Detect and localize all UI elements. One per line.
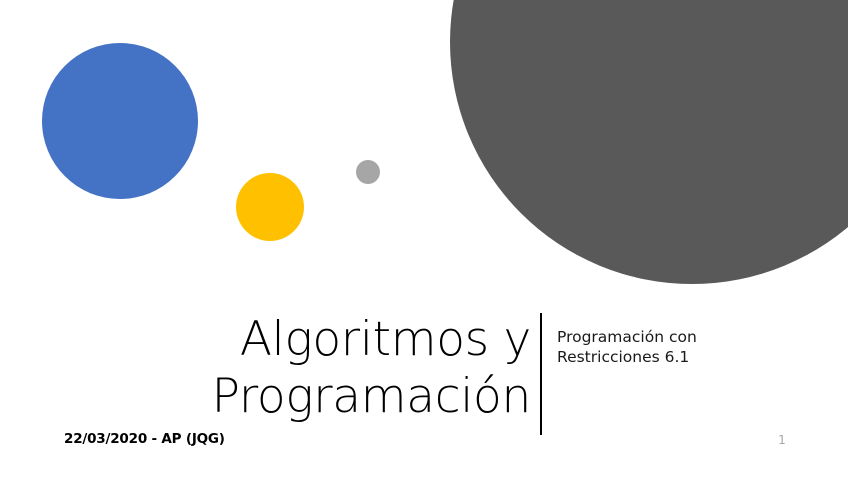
- presentation-slide: Algoritmos y Programación Programación c…: [0, 0, 848, 477]
- subtitle-block: Programación con Restricciones 6.1: [557, 327, 807, 367]
- slide-title: Algoritmos y Programación: [0, 311, 531, 426]
- yellow-circle-decoration: [236, 173, 304, 241]
- title-divider: [540, 313, 542, 435]
- footer-date-author: 22/03/2020 - AP (JQG): [64, 431, 225, 447]
- slide-subtitle: Programación con Restricciones 6.1: [557, 327, 807, 367]
- title-block: Algoritmos y Programación: [0, 311, 531, 426]
- blue-circle-decoration: [42, 43, 198, 199]
- small-gray-circle-decoration: [356, 160, 380, 184]
- slide-page-number: 1: [770, 433, 794, 447]
- large-gray-circle-decoration: [450, 0, 848, 284]
